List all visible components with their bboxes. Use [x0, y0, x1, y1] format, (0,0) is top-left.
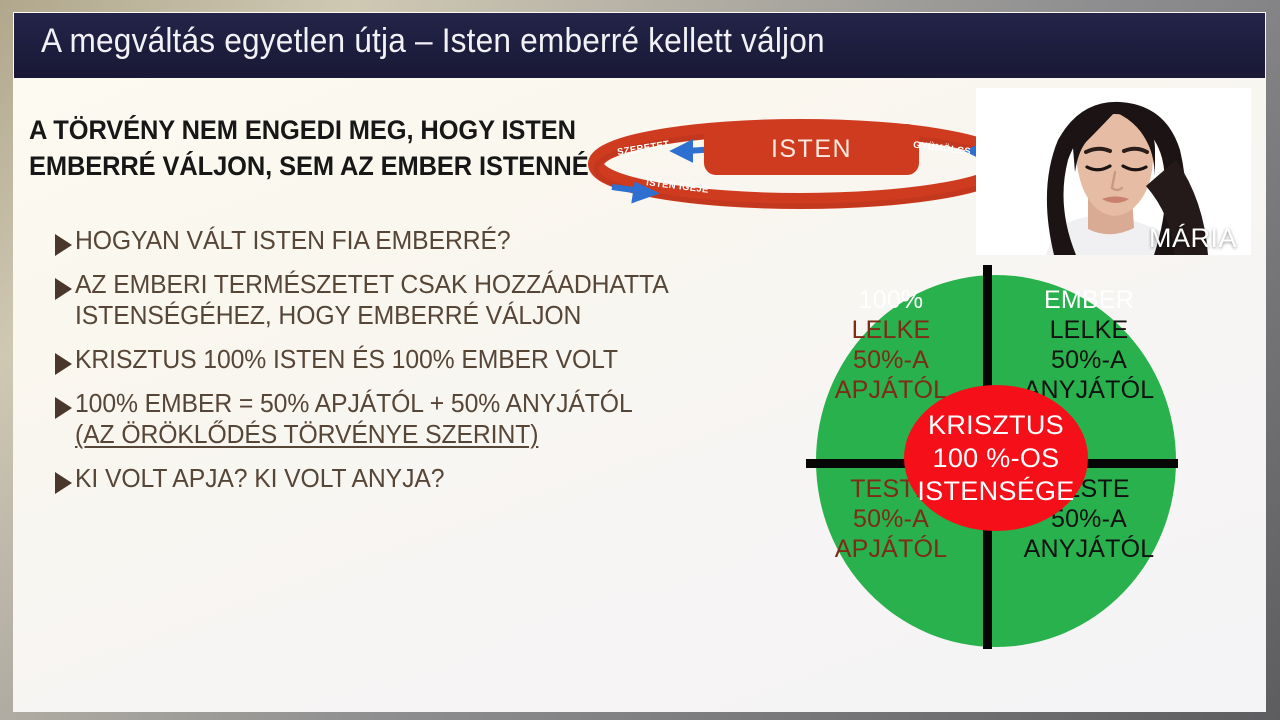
quadrant-line: ANYJÁTÓL	[996, 534, 1182, 564]
krisztus-circle-diagram: 100% LELKE 50%-A APJÁTÓL EMBER LELKE 50%…	[806, 265, 1178, 649]
triangle-right-icon	[55, 278, 72, 300]
list-item: KI VOLT APJA? KI VOLT ANYJA?	[55, 464, 695, 495]
isten-cycle-diagram: ISTEN SZERETET ISTEN IGÉJE GYÜMÖLCS	[584, 117, 1019, 217]
center-line: ISTENSÉGE	[917, 475, 1074, 508]
list-item: 100% EMBER = 50% APJÁTÓL + 50% ANYJÁTÓL …	[55, 389, 695, 451]
bullet-list: HOGYAN VÁLT ISTEN FIA EMBERRÉ? AZ EMBERI…	[55, 226, 695, 508]
list-item-line: KI VOLT APJA? KI VOLT ANYJA?	[75, 464, 676, 495]
list-item-body: AZ EMBERI TERMÉSZETET CSAK HOZZÁADHATTA …	[75, 270, 695, 332]
triangle-right-icon	[55, 472, 72, 494]
slide-canvas: A megváltás egyetlen útja – Isten emberr…	[13, 12, 1266, 712]
list-item: AZ EMBERI TERMÉSZETET CSAK HOZZÁADHATTA …	[55, 270, 695, 332]
photo-caption: MÁRIA	[1149, 223, 1237, 254]
circle-red-center: KRISZTUS 100 %-OS ISTENSÉGE	[904, 385, 1088, 531]
quadrant-line: 50%-A	[996, 345, 1182, 375]
lead-paragraph: A TÖRVÉNY NEM ENGEDI MEG, HOGY ISTEN EMB…	[29, 112, 599, 184]
list-item-line: HOGYAN VÁLT ISTEN FIA EMBERRÉ?	[75, 226, 676, 257]
list-item-line: ISTENSÉGÉHEZ, HOGY EMBERRÉ VÁLJON	[75, 301, 676, 332]
list-item-body: KI VOLT APJA? KI VOLT ANYJA?	[75, 464, 695, 495]
triangle-right-icon	[55, 353, 72, 375]
list-item-line-underlined: (AZ ÖRÖKLŐDÉS TÖRVÉNYE SZERINT)	[75, 420, 676, 451]
maria-photo: MÁRIA	[976, 88, 1251, 255]
isten-center-box: ISTEN	[704, 124, 919, 175]
lead-line-1: A TÖRVÉNY NEM ENGEDI MEG, HOGY ISTEN	[29, 112, 576, 148]
list-item-body: KRISZTUS 100% ISTEN ÉS 100% EMBER VOLT	[75, 345, 695, 376]
quadrant-line: 100%	[802, 285, 980, 315]
quadrant-top-right: EMBER LELKE 50%-A ANYJÁTÓL	[996, 285, 1182, 405]
list-item: KRISZTUS 100% ISTEN ÉS 100% EMBER VOLT	[55, 345, 695, 376]
quadrant-line: EMBER	[996, 285, 1182, 315]
slide-frame: A megváltás egyetlen útja – Isten emberr…	[0, 0, 1280, 720]
list-item-body: 100% EMBER = 50% APJÁTÓL + 50% ANYJÁTÓL …	[75, 389, 695, 451]
quadrant-line: LELKE	[802, 315, 980, 345]
quadrant-line: LELKE	[996, 315, 1182, 345]
triangle-right-icon	[55, 234, 72, 256]
list-item: HOGYAN VÁLT ISTEN FIA EMBERRÉ?	[55, 226, 695, 257]
quadrant-top-left: 100% LELKE 50%-A APJÁTÓL	[802, 285, 980, 405]
page-title: A megváltás egyetlen útja – Isten emberr…	[41, 22, 825, 61]
list-item-body: HOGYAN VÁLT ISTEN FIA EMBERRÉ?	[75, 226, 695, 257]
center-line: KRISZTUS	[928, 409, 1064, 442]
title-bar: A megváltás egyetlen útja – Isten emberr…	[14, 13, 1265, 78]
list-item-line: KRISZTUS 100% ISTEN ÉS 100% EMBER VOLT	[75, 345, 676, 376]
quadrant-line: APJÁTÓL	[802, 534, 980, 564]
center-line: 100 %-OS	[933, 442, 1060, 475]
triangle-right-icon	[55, 397, 72, 419]
isten-label: ISTEN	[771, 135, 852, 164]
quadrant-line: 50%-A	[802, 345, 980, 375]
list-item-line: 100% EMBER = 50% APJÁTÓL + 50% ANYJÁTÓL	[75, 389, 676, 420]
list-item-line: AZ EMBERI TERMÉSZETET CSAK HOZZÁADHATTA	[75, 270, 676, 301]
lead-line-2: EMBERRÉ VÁLJON, SEM AZ EMBER ISTENNÉ	[29, 148, 576, 184]
